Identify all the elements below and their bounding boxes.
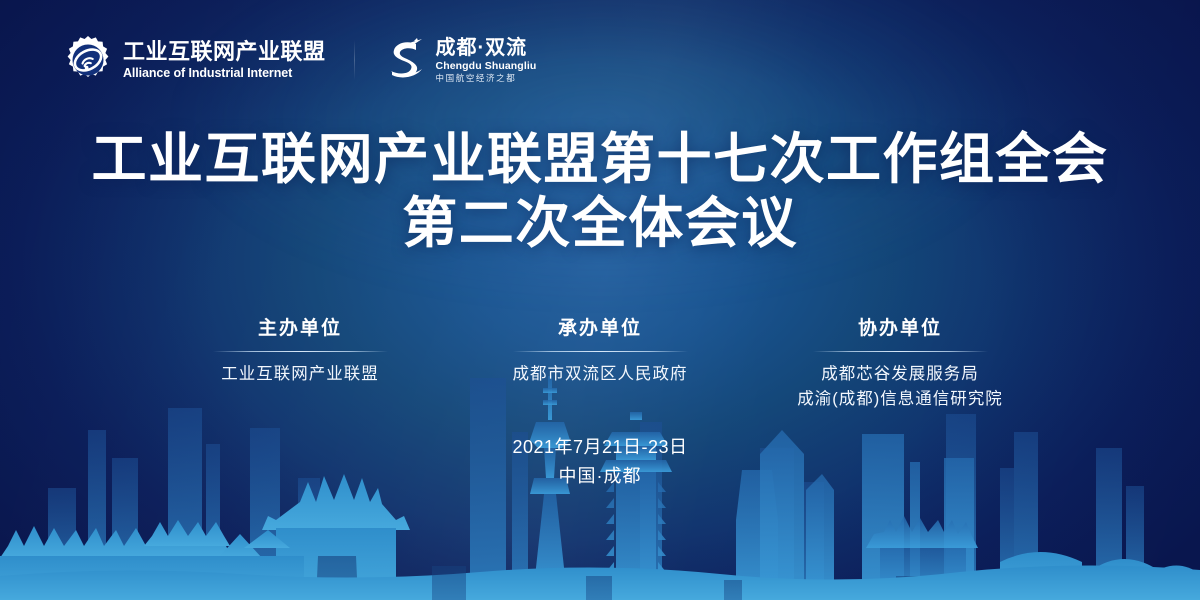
s-swoosh-airplane-icon	[383, 35, 427, 85]
logo-shuangliu-en-name: Chengdu Shuangliu	[436, 61, 537, 72]
organizer-role-label: 承办单位	[450, 318, 750, 341]
page-title: 工业互联网产业联盟第十七次工作组全会 第二次全体会议	[0, 128, 1200, 256]
logo-alliance-of-industrial-internet: 工业互联网产业联盟 Alliance of Industrial Interne…	[62, 34, 326, 86]
organizer-column-coorganizer: 协办单位 成都芯谷发展服务局 成渝(成都)信息通信研究院	[750, 318, 1050, 411]
logo-shuangliu-tagline: 中国航空经济之都	[436, 74, 537, 83]
logo-bar: 工业互联网产业联盟 Alliance of Industrial Interne…	[62, 34, 536, 86]
organizer-divider	[813, 351, 988, 352]
logo-chengdu-shuangliu: 成都·双流 Chengdu Shuangliu 中国航空经济之都	[383, 35, 537, 85]
event-meta: 2021年7月21日-23日 中国·成都	[0, 434, 1200, 490]
organizer-role-label: 主办单位	[150, 318, 450, 341]
organizer-divider	[213, 351, 388, 352]
organizer-name: 工业互联网产业联盟	[150, 362, 450, 387]
conference-banner: 工业互联网产业联盟 Alliance of Industrial Interne…	[0, 0, 1200, 600]
logo-separator	[354, 40, 355, 80]
organizer-role-label: 协办单位	[750, 318, 1050, 341]
organizer-column-undertaker: 承办单位 成都市双流区人民政府	[450, 318, 750, 411]
organizer-divider	[513, 351, 688, 352]
organizer-name: 成都市双流区人民政府	[450, 362, 750, 387]
event-date: 2021年7月21日-23日	[0, 434, 1200, 461]
title-line-1: 工业互联网产业联盟第十七次工作组全会	[0, 128, 1200, 192]
organizer-name: 成都芯谷发展服务局	[750, 362, 1050, 387]
organizers-row: 主办单位 工业互联网产业联盟 承办单位 成都市双流区人民政府 协办单位 成都芯谷…	[0, 318, 1200, 411]
title-line-2: 第二次全体会议	[0, 192, 1200, 256]
logo-shuangliu-cn-name: 成都·双流	[436, 38, 537, 58]
gear-wifi-icon	[62, 34, 114, 86]
event-place: 中国·成都	[0, 463, 1200, 490]
logo-alliance-en-name: Alliance of Industrial Internet	[123, 67, 326, 80]
organizer-name: 成渝(成都)信息通信研究院	[750, 387, 1050, 412]
logo-alliance-cn-name: 工业互联网产业联盟	[123, 41, 326, 63]
organizer-column-host: 主办单位 工业互联网产业联盟	[150, 318, 450, 411]
